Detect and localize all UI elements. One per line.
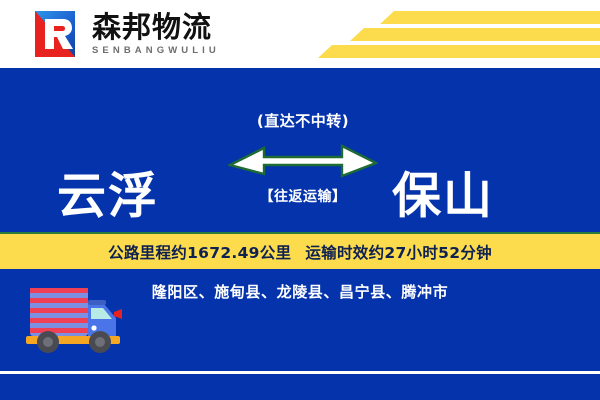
- origin-city-label: 云浮: [57, 157, 159, 228]
- banner-text-row: 公路里程约1672.49公里运输时效约27小时52分钟: [108, 241, 492, 263]
- districts-section: 隆阳区、施甸县、龙陵县、昌宁县、腾冲市: [0, 269, 600, 372]
- brand-block: 森邦物流 SENBANGWULIU: [27, 9, 220, 59]
- header-stripe-2: [350, 28, 600, 41]
- distance-duration-banner: 公路里程约1672.49公里运输时效约27小时52分钟: [0, 232, 600, 269]
- duration-text: 运输时效约27小时52分钟: [305, 244, 492, 262]
- brand-name-cn: 森邦物流: [92, 13, 220, 43]
- poster-header: 森邦物流 SENBANGWULIU: [0, 0, 600, 68]
- double-headed-arrow-icon: [228, 135, 378, 179]
- route-section: 云浮 (直达不中转) 【往返运输】 保山: [0, 68, 600, 232]
- route-middle-block: (直达不中转) 【往返运输】: [228, 110, 378, 206]
- logistics-route-poster: 森邦物流 SENBANGWULIU 云浮 (直达不中转) 【往返运输】 保山 公…: [0, 0, 600, 400]
- round-trip-note: 【往返运输】: [228, 186, 378, 206]
- destination-districts-label: 隆阳区、施甸县、龙陵县、昌宁县、腾冲市: [0, 281, 600, 302]
- header-stripes-decoration: [330, 0, 600, 68]
- distance-text: 公路里程约1672.49公里: [108, 244, 291, 262]
- header-stripe-3: [318, 45, 600, 58]
- brand-text-block: 森邦物流 SENBANGWULIU: [92, 12, 220, 57]
- direct-route-note: (直达不中转): [228, 110, 378, 131]
- poster-footer: [0, 374, 600, 400]
- brand-name-en: SENBANGWULIU: [92, 45, 220, 56]
- senbang-r-logo-icon: [27, 9, 83, 59]
- header-stripe-1: [380, 11, 600, 24]
- destination-city-label: 保山: [392, 157, 494, 228]
